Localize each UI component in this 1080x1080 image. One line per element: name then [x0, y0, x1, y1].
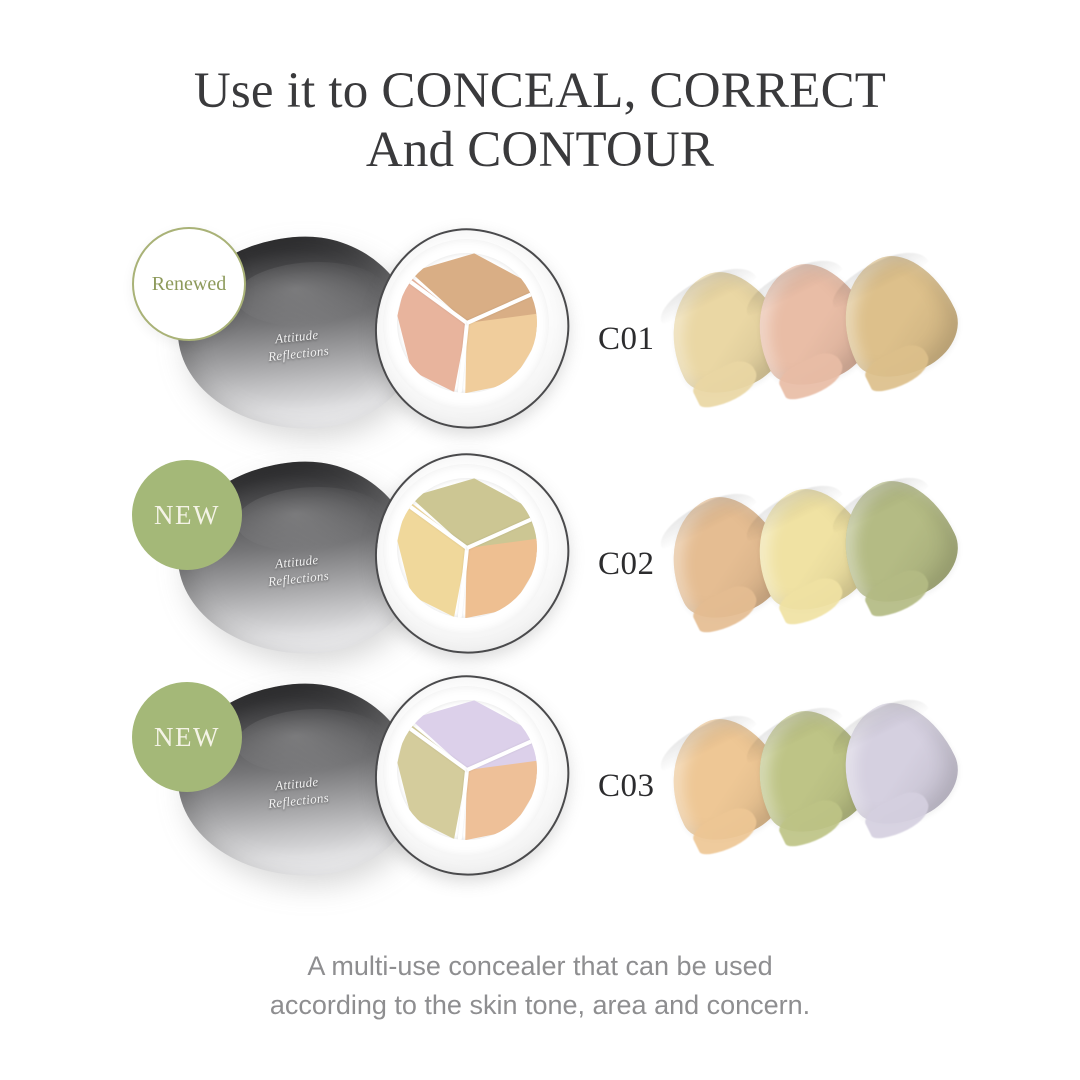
badge-new-c03: NEW: [132, 682, 242, 792]
badge-label: Renewed: [152, 273, 226, 296]
caption-line-2: according to the skin tone, area and con…: [0, 986, 1080, 1024]
headline-line-1: Use it to CONCEAL, CORRECT: [0, 62, 1080, 121]
product-description: A multi-use concealer that can be used a…: [0, 947, 1080, 1024]
badge-renewed-c01: Renewed: [132, 227, 246, 341]
swatch-group-c03: [668, 702, 968, 862]
compact-product-c03: Attitude Reflections NEW: [150, 672, 590, 897]
caption-line-1: A multi-use concealer that can be used: [0, 947, 1080, 985]
page-title: Use it to CONCEAL, CORRECT And CONTOUR: [0, 62, 1080, 180]
shade-row-c02: Attitude Reflections NEW: [0, 450, 1080, 675]
compact-product-c02: Attitude Reflections NEW: [150, 450, 590, 675]
badge-label: NEW: [154, 500, 220, 531]
compact-product-c01: Attitude Reflections Renewed: [150, 225, 590, 450]
compact-base-c03: [375, 676, 575, 884]
compact-base-c02: [375, 454, 575, 662]
shade-label-c03: C03: [598, 768, 655, 805]
lid-gloss-highlight: [234, 483, 387, 555]
swatch-group-c01: [668, 255, 968, 415]
lid-gloss-highlight: [234, 258, 387, 330]
compact-base-c01: [375, 229, 575, 437]
shade-row-c03: Attitude Reflections NEW: [0, 672, 1080, 897]
swatch-group-c02: [668, 480, 968, 640]
shade-row-c01: Attitude Reflections Renewed: [0, 225, 1080, 450]
shade-label-c02: C02: [598, 546, 655, 583]
badge-new-c02: NEW: [132, 460, 242, 570]
shade-label-c01: C01: [598, 321, 655, 358]
lid-gloss-highlight: [234, 705, 387, 777]
badge-label: NEW: [154, 722, 220, 753]
product-infographic: Use it to CONCEAL, CORRECT And CONTOUR A…: [0, 0, 1080, 1080]
headline-line-2: And CONTOUR: [0, 121, 1080, 180]
